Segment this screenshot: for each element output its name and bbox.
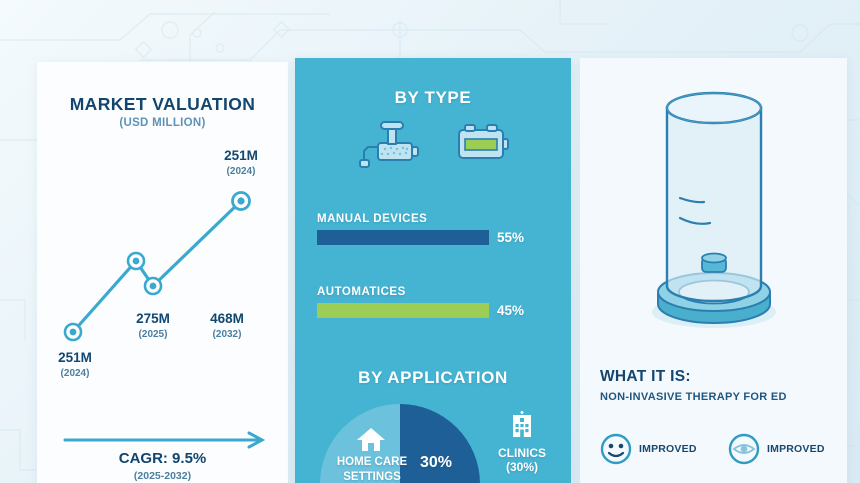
bar-fill-automatices	[317, 303, 489, 318]
datapoint-label-2024-top: 251M	[203, 148, 279, 163]
by-type-icon-row	[295, 116, 571, 172]
battery-automatic-device-icon	[452, 119, 514, 169]
bar-track-manual-devices	[317, 230, 489, 245]
bar-track-automatices	[317, 303, 489, 318]
smiley-face-icon	[600, 433, 632, 465]
clinics-percent: (30%)	[483, 460, 561, 474]
bar-percent-manual-devices: 55%	[497, 230, 524, 245]
bar-percent-automatices: 45%	[497, 303, 524, 318]
clinics-label: CLINICS	[483, 446, 561, 460]
datapoint-label-2032: 468M	[189, 311, 265, 326]
what-it-is-subtitle: NON-INVASIVE THERAPY FOR ED	[600, 391, 787, 403]
datapoint-year-2025: (2025)	[115, 329, 191, 340]
bar-fill-manual-devices	[317, 230, 489, 245]
eye-icon	[728, 433, 760, 465]
bar-group-automatices: AUTOMATICES 45%	[317, 286, 549, 318]
what-it-is-title: WHAT IT IS:	[600, 368, 691, 386]
manual-pump-device-icon	[352, 116, 426, 172]
cagr-label: CAGR: 9.5%	[37, 450, 288, 467]
infographic-canvas: MARKET VALUATION (USD MILLION)	[0, 0, 860, 483]
market-valuation-panel: MARKET VALUATION (USD MILLION)	[37, 62, 288, 483]
datapoint-label-2024-bottom: 251M	[37, 350, 113, 365]
market-valuation-line-chart	[37, 62, 288, 483]
vacuum-therapy-cylinder-icon	[634, 72, 794, 342]
datapoint-year-2024-bottom: (2024)	[37, 368, 113, 379]
datapoint-year-2024-top: (2024)	[203, 166, 279, 177]
growth-arrow-icon	[63, 430, 271, 450]
datapoint-label-2025: 275M	[115, 311, 191, 326]
bar-group-manual-devices: MANUAL DEVICES 55%	[317, 213, 549, 245]
benefit-item-2: IMPROVED	[728, 433, 825, 465]
hospital-building-icon	[508, 410, 536, 438]
benefit-text-1: IMPROVED	[639, 443, 697, 455]
by-application-pie-chart: HOME CARE SETTINGS 30%	[320, 404, 480, 483]
pie-legend-clinics: CLINICS (30%)	[483, 410, 561, 474]
bar-label-manual-devices: MANUAL DEVICES	[317, 213, 549, 225]
pie-label-home-care-line1: HOME CARE	[326, 456, 418, 468]
benefit-text-2: IMPROVED	[767, 443, 825, 455]
segmentation-panel: BY TYPE	[295, 58, 571, 483]
pie-label-home-care-line2: SETTINGS	[326, 471, 418, 483]
bar-label-automatices: AUTOMATICES	[317, 286, 549, 298]
by-application-title: BY APPLICATION	[295, 368, 571, 388]
datapoint-year-2032: (2032)	[189, 329, 265, 340]
device-illustration	[580, 72, 847, 342]
cagr-range: (2025-2032)	[37, 470, 288, 482]
home-icon	[356, 426, 386, 452]
benefit-item-1: IMPROVED	[600, 433, 697, 465]
by-type-title: BY TYPE	[295, 88, 571, 108]
pie-center-percent: 30%	[408, 454, 464, 472]
what-it-is-panel: WHAT IT IS: NON-INVASIVE THERAPY FOR ED …	[580, 58, 847, 483]
